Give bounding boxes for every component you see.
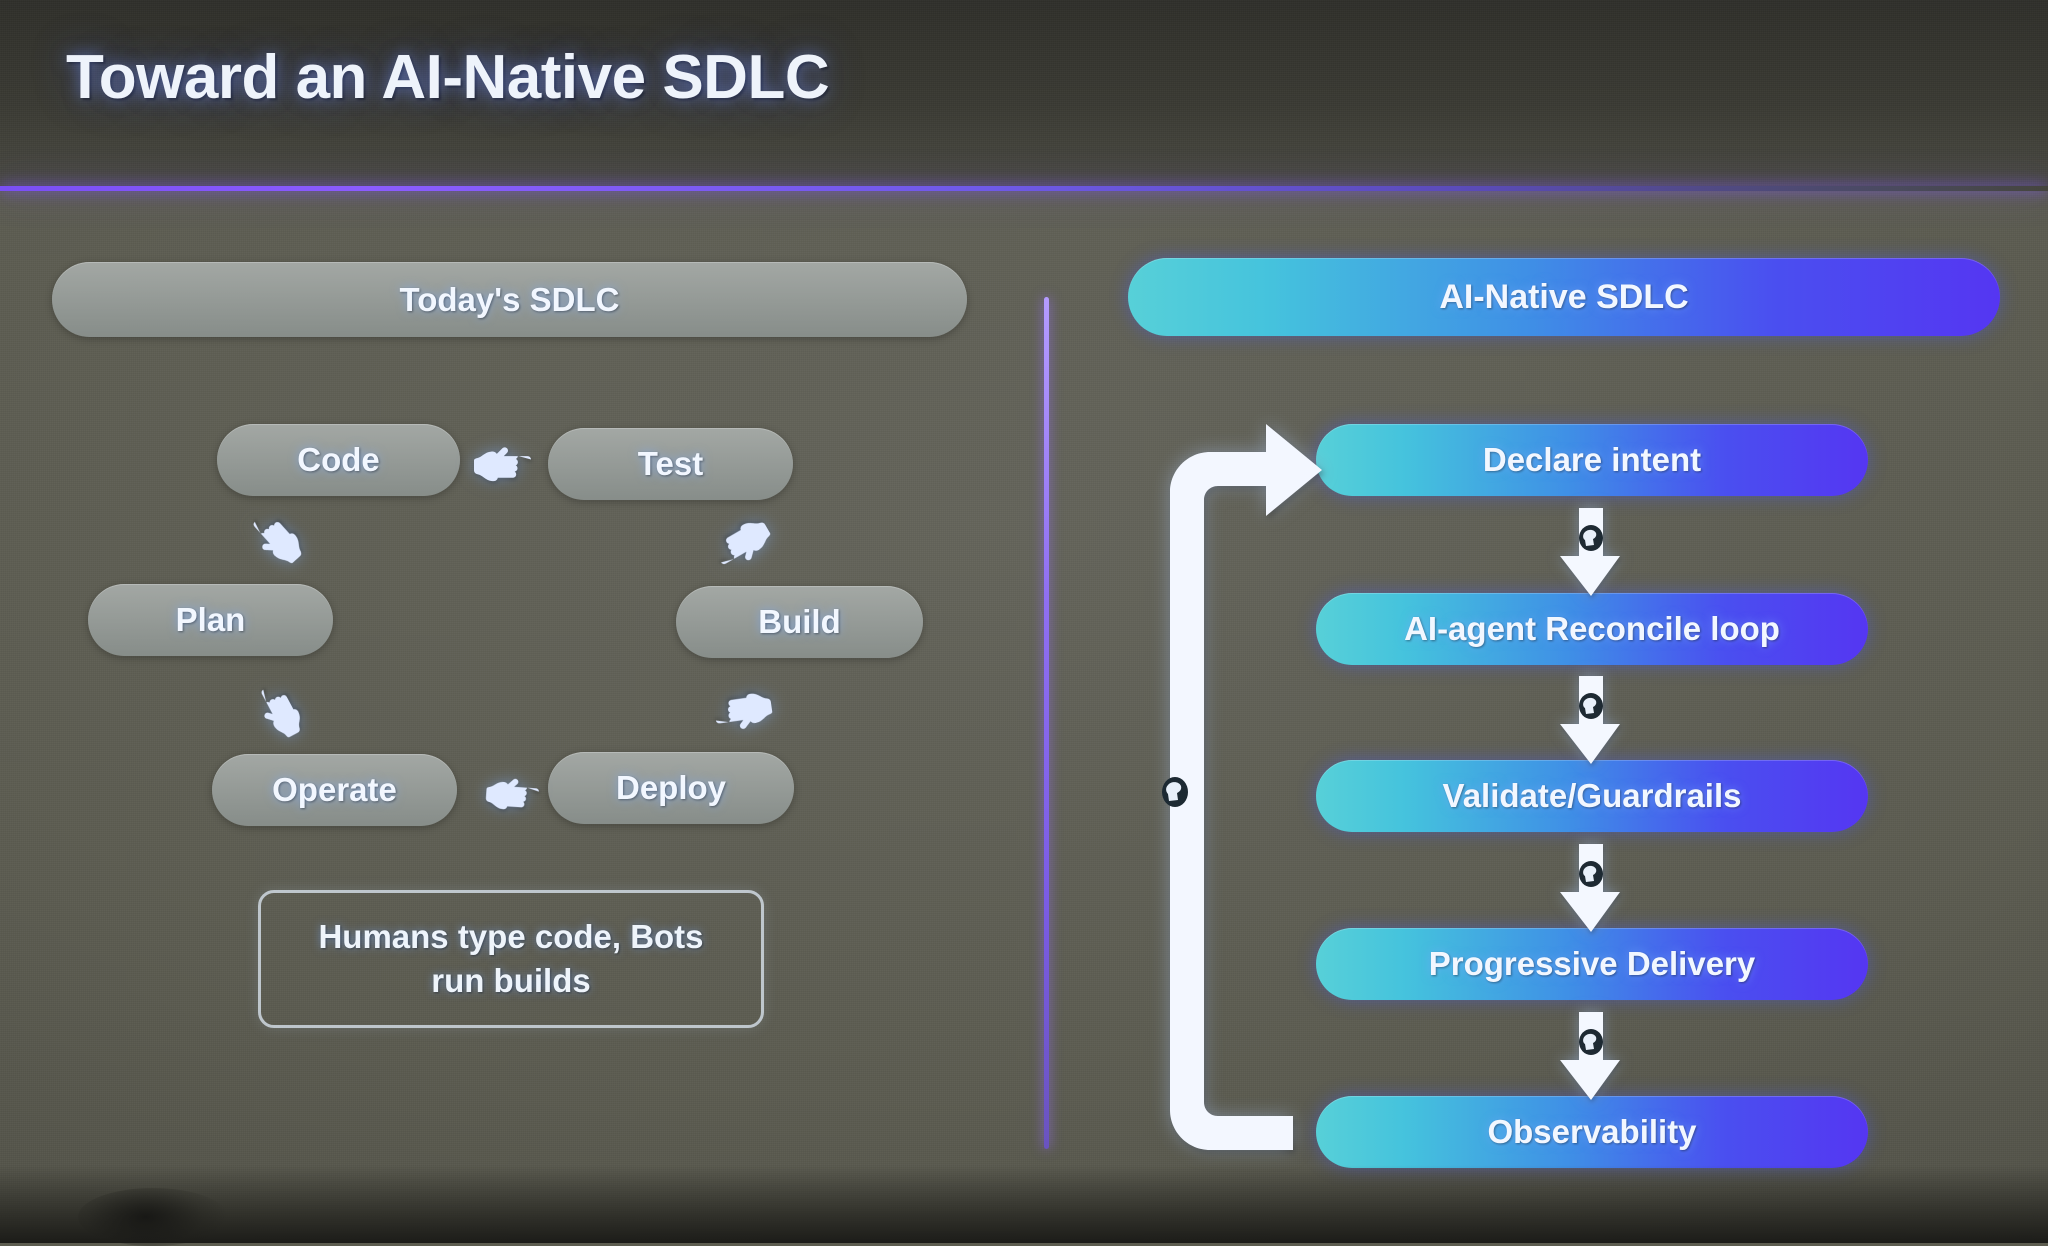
pointing-hand-icon — [708, 676, 780, 748]
down-arrow-agent-icon — [1558, 676, 1624, 764]
node-deploy[interactable]: Deploy — [548, 752, 794, 824]
panel-separator — [1044, 297, 1049, 1149]
pointing-hand-icon — [481, 763, 544, 826]
slide-canvas: Toward an AI-Native SDLC Today's SDLC Co… — [0, 0, 2048, 1243]
right-panel-header: AI-Native SDLC — [1128, 258, 2000, 336]
agent-head-icon — [1160, 775, 1190, 809]
node-operate[interactable]: Operate — [212, 754, 457, 826]
left-panel-header: Today's SDLC — [52, 262, 967, 337]
node-code[interactable]: Code — [217, 424, 460, 496]
pointing-hand-icon — [239, 671, 321, 753]
caption-line-1: Humans type code, Bots — [318, 918, 703, 955]
node-plan[interactable]: Plan — [88, 584, 333, 656]
node-ai-agent-reconcile-loop[interactable]: AI-agent Reconcile loop — [1316, 593, 1868, 665]
node-build[interactable]: Build — [676, 586, 923, 658]
node-test[interactable]: Test — [548, 428, 793, 500]
node-validate-guardrails[interactable]: Validate/Guardrails — [1316, 760, 1868, 832]
title-underline-rule — [0, 186, 2048, 191]
pointing-hand-icon — [233, 496, 322, 585]
pointing-hand-icon — [470, 432, 534, 496]
page-title: Toward an AI-Native SDLC — [66, 42, 829, 113]
down-arrow-agent-icon — [1558, 508, 1624, 596]
down-arrow-agent-icon — [1558, 844, 1624, 932]
caption-line-2: run builds — [431, 962, 591, 999]
down-arrow-agent-icon — [1558, 1012, 1624, 1100]
photo-smudge — [78, 1188, 228, 1246]
slide-bottom-band — [0, 1165, 2048, 1243]
left-panel-caption: Humans type code, Bots run builds — [258, 890, 764, 1028]
node-observability[interactable]: Observability — [1316, 1096, 1868, 1168]
node-declare-intent[interactable]: Declare intent — [1316, 424, 1868, 496]
pointing-hand-icon — [700, 500, 787, 587]
node-progressive-delivery[interactable]: Progressive Delivery — [1316, 928, 1868, 1000]
